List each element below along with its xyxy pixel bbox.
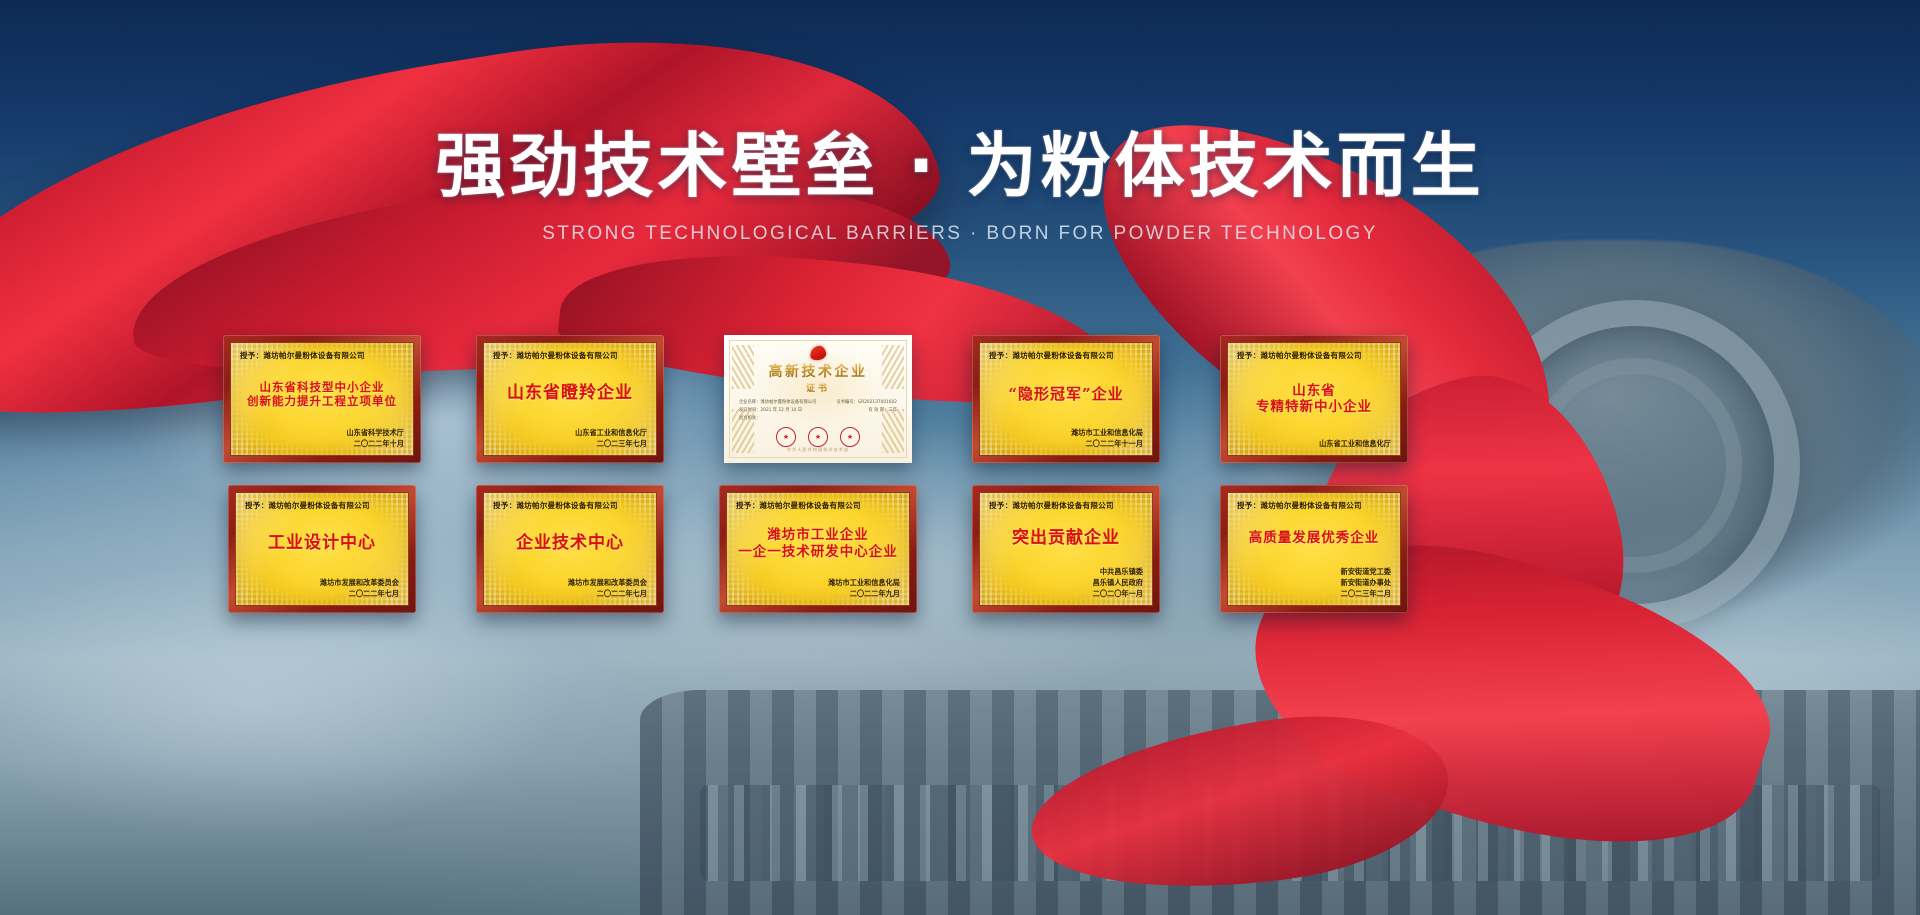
cert-field: 证书编号：GR202137001602 (836, 399, 897, 407)
award-title-line: 山东省科技型中小企业 (260, 380, 385, 394)
plaque-face: 授予：潍坊帕尔曼粉体设备有限公司 突出贡献企业 中共昌乐镇委昌乐镇人民政府二〇二… (979, 492, 1153, 606)
certificate-fields: 企业名称：潍坊帕尔曼粉体设备有限公司证书编号：GR202137001602 发证… (736, 399, 900, 423)
award-title-line: 潍坊市工业企业 (767, 527, 869, 544)
award-issuer-line: 山东省工业和信息化厅 (1237, 438, 1391, 449)
award-title-line: 创新能力提升工程立项单位 (247, 394, 397, 408)
award-issuer-line: 昌乐镇人民政府 (989, 577, 1143, 588)
official-seal-icon (808, 427, 828, 447)
hero-banner: 强劲技术壁垒 · 为粉体技术而生 STRONG TECHNOLOGICAL BA… (0, 0, 1920, 915)
award-cell: 授予：潍坊帕尔曼粉体设备有限公司 山东省瞪羚企业 山东省工业和信息化厅二〇二三年… (454, 335, 686, 463)
official-seal-icon (840, 427, 860, 447)
award-date: 二〇二三年二月 (1237, 588, 1391, 599)
award-title: 山东省瞪羚企业 (493, 361, 647, 427)
award-issuer-line: 新安街道办事处 (1237, 577, 1391, 588)
award-title-line: 突出贡献企业 (1012, 528, 1120, 549)
award-date: 二〇二二年十月 (240, 438, 404, 449)
award-issuer: 中共昌乐镇委昌乐镇人民政府二〇二〇年一月 (989, 566, 1143, 599)
award-title-line: 山东省瞪羚企业 (507, 383, 633, 404)
award-issuer: 山东省工业和信息化厅二〇二三年七月 (493, 427, 647, 449)
award-title: 山东省科技型中小企业创新能力提升工程立项单位 (240, 361, 404, 427)
award-issuer-line: 潍坊市工业和信息化局 (989, 427, 1143, 438)
award-title: 工业设计中心 (245, 511, 399, 577)
award-title-line: 高质量发展优秀企业 (1249, 530, 1380, 547)
award-grantee: 授予：潍坊帕尔曼粉体设备有限公司 (736, 500, 900, 511)
award-cell: 授予：潍坊帕尔曼粉体设备有限公司 潍坊市工业企业一企一技术研发中心企业 潍坊市工… (702, 485, 934, 613)
award-title: 高质量发展优秀企业 (1237, 511, 1391, 566)
award-plaque[interactable]: 授予：潍坊帕尔曼粉体设备有限公司 企业技术中心 潍坊市发展和改革委员会二〇二二年… (476, 485, 664, 613)
award-issuer-line: 中共昌乐镇委 (989, 566, 1143, 577)
award-date: 二〇二二年九月 (736, 588, 900, 599)
award-plaque[interactable]: 授予：潍坊帕尔曼粉体设备有限公司 潍坊市工业企业一企一技术研发中心企业 潍坊市工… (719, 485, 917, 613)
award-cell: 授予：潍坊帕尔曼粉体设备有限公司 企业技术中心 潍坊市发展和改革委员会二〇二二年… (454, 485, 686, 613)
certificate-inner: 高新技术企业 证书 企业名称：潍坊帕尔曼粉体设备有限公司证书编号：GR20213… (729, 340, 907, 458)
page-title: 强劲技术壁垒 · 为粉体技术而生 (0, 128, 1920, 205)
award-row: 授予：潍坊帕尔曼粉体设备有限公司 山东省科技型中小企业创新能力提升工程立项单位 … (206, 335, 1726, 463)
certificate-seals (776, 427, 860, 447)
corner-ornament-icon (882, 409, 904, 453)
award-plaque[interactable]: 授予：潍坊帕尔曼粉体设备有限公司 山东省科技型中小企业创新能力提升工程立项单位 … (223, 335, 421, 463)
award-title-line: “隐形冠军”企业 (1008, 385, 1123, 404)
award-cell: 授予：潍坊帕尔曼粉体设备有限公司 山东省科技型中小企业创新能力提升工程立项单位 … (206, 335, 438, 463)
award-issuer: 新安街道党工委新安街道办事处二〇二三年二月 (1237, 566, 1391, 599)
corner-ornament-icon (732, 345, 754, 389)
award-cell: 授予：潍坊帕尔曼粉体设备有限公司 突出贡献企业 中共昌乐镇委昌乐镇人民政府二〇二… (950, 485, 1182, 613)
flame-emblem-icon (809, 345, 827, 361)
award-grantee: 授予：潍坊帕尔曼粉体设备有限公司 (245, 500, 399, 511)
award-issuer: 潍坊市发展和改革委员会二〇二二年七月 (493, 577, 647, 599)
award-title-line: 山东省 (1292, 383, 1336, 400)
award-grantee: 授予：潍坊帕尔曼粉体设备有限公司 (1237, 350, 1391, 361)
award-title: “隐形冠军”企业 (989, 361, 1143, 427)
award-grantee: 授予：潍坊帕尔曼粉体设备有限公司 (493, 500, 647, 511)
award-issuer-line: 潍坊市发展和改革委员会 (245, 577, 399, 588)
official-seal-icon (776, 427, 796, 447)
award-issuer: 潍坊市工业和信息化局二〇二二年九月 (736, 577, 900, 599)
plaque-face: 授予：潍坊帕尔曼粉体设备有限公司 企业技术中心 潍坊市发展和改革委员会二〇二二年… (483, 492, 657, 606)
award-grantee: 授予：潍坊帕尔曼粉体设备有限公司 (989, 350, 1143, 361)
award-plaque[interactable]: 授予：潍坊帕尔曼粉体设备有限公司 高质量发展优秀企业 新安街道党工委新安街道办事… (1220, 485, 1408, 613)
award-grantee: 授予：潍坊帕尔曼粉体设备有限公司 (989, 500, 1143, 511)
award-date: 二〇二〇年一月 (989, 588, 1143, 599)
award-plaque[interactable]: 授予：潍坊帕尔曼粉体设备有限公司 山东省专精特新中小企业 山东省工业和信息化厅 (1220, 335, 1408, 463)
award-title-line: 企业技术中心 (516, 533, 624, 554)
corner-ornament-icon (882, 345, 904, 389)
award-title-line: 专精特新中小企业 (1256, 399, 1372, 416)
corner-ornament-icon (732, 409, 754, 453)
award-issuer-line: 新安街道党工委 (1237, 566, 1391, 577)
plaque-face: 授予：潍坊帕尔曼粉体设备有限公司 “隐形冠军”企业 潍坊市工业和信息化局二〇二二… (979, 342, 1153, 456)
award-cell: 授予：潍坊帕尔曼粉体设备有限公司 “隐形冠军”企业 潍坊市工业和信息化局二〇二二… (950, 335, 1182, 463)
award-issuer-line: 潍坊市工业和信息化局 (736, 577, 900, 588)
award-date: 二〇二二年七月 (245, 588, 399, 599)
award-issuer: 潍坊市工业和信息化局二〇二二年十一月 (989, 427, 1143, 449)
award-cell: 授予：潍坊帕尔曼粉体设备有限公司 高质量发展优秀企业 新安街道党工委新安街道办事… (1198, 485, 1430, 613)
award-grantee: 授予：潍坊帕尔曼粉体设备有限公司 (493, 350, 647, 361)
award-grantee: 授予：潍坊帕尔曼粉体设备有限公司 (1237, 500, 1391, 511)
award-date: 二〇二二年七月 (493, 588, 647, 599)
page-subtitle: STRONG TECHNOLOGICAL BARRIERS · BORN FOR… (0, 223, 1920, 245)
award-date: 二〇二三年七月 (493, 438, 647, 449)
award-cell: 授予：潍坊帕尔曼粉体设备有限公司 山东省专精特新中小企业 山东省工业和信息化厅 (1198, 335, 1430, 463)
plaque-face: 授予：潍坊帕尔曼粉体设备有限公司 山东省专精特新中小企业 山东省工业和信息化厅 (1227, 342, 1401, 456)
award-title: 山东省专精特新中小企业 (1237, 361, 1391, 438)
plaque-face: 授予：潍坊帕尔曼粉体设备有限公司 山东省瞪羚企业 山东省工业和信息化厅二〇二三年… (483, 342, 657, 456)
award-issuer: 潍坊市发展和改革委员会二〇二二年七月 (245, 577, 399, 599)
award-date: 二〇二二年十一月 (989, 438, 1143, 449)
certificate-high-tech-enterprise[interactable]: 高新技术企业 证书 企业名称：潍坊帕尔曼粉体设备有限公司证书编号：GR20213… (724, 335, 912, 463)
award-cell: 授予：潍坊帕尔曼粉体设备有限公司 工业设计中心 潍坊市发展和改革委员会二〇二二年… (206, 485, 438, 613)
cert-field: 企业名称：潍坊帕尔曼粉体设备有限公司 (739, 399, 816, 407)
award-plaque[interactable]: 授予：潍坊帕尔曼粉体设备有限公司 突出贡献企业 中共昌乐镇委昌乐镇人民政府二〇二… (972, 485, 1160, 613)
award-row: 授予：潍坊帕尔曼粉体设备有限公司 工业设计中心 潍坊市发展和改革委员会二〇二二年… (206, 485, 1726, 613)
award-grantee: 授予：潍坊帕尔曼粉体设备有限公司 (240, 350, 404, 361)
certificate-title: 高新技术企业 (769, 361, 868, 381)
award-issuer-line: 山东省工业和信息化厅 (493, 427, 647, 438)
award-issuer: 山东省科学技术厅二〇二二年十月 (240, 427, 404, 449)
plaque-face: 授予：潍坊帕尔曼粉体设备有限公司 高质量发展优秀企业 新安街道党工委新安街道办事… (1227, 492, 1401, 606)
awards-gallery: 授予：潍坊帕尔曼粉体设备有限公司 山东省科技型中小企业创新能力提升工程立项单位 … (206, 335, 1726, 613)
plaque-face: 授予：潍坊帕尔曼粉体设备有限公司 山东省科技型中小企业创新能力提升工程立项单位 … (230, 342, 414, 456)
award-plaque[interactable]: 授予：潍坊帕尔曼粉体设备有限公司 山东省瞪羚企业 山东省工业和信息化厅二〇二三年… (476, 335, 664, 463)
award-title: 潍坊市工业企业一企一技术研发中心企业 (736, 511, 900, 577)
award-plaque[interactable]: 授予：潍坊帕尔曼粉体设备有限公司 “隐形冠军”企业 潍坊市工业和信息化局二〇二二… (972, 335, 1160, 463)
award-title: 突出贡献企业 (989, 511, 1143, 566)
certificate-subtitle: 证书 (806, 381, 830, 394)
certificate-footer: 中华人民共和国科学技术部 (787, 447, 849, 454)
award-title-line: 一企一技术研发中心企业 (738, 544, 898, 561)
plaque-face: 授予：潍坊帕尔曼粉体设备有限公司 工业设计中心 潍坊市发展和改革委员会二〇二二年… (235, 492, 409, 606)
plaque-face: 授予：潍坊帕尔曼粉体设备有限公司 潍坊市工业企业一企一技术研发中心企业 潍坊市工… (726, 492, 910, 606)
headline-block: 强劲技术壁垒 · 为粉体技术而生 STRONG TECHNOLOGICAL BA… (0, 128, 1920, 245)
award-issuer-line: 山东省科学技术厅 (240, 427, 404, 438)
award-issuer-line: 潍坊市发展和改革委员会 (493, 577, 647, 588)
award-title: 企业技术中心 (493, 511, 647, 577)
stone-base-frieze (700, 785, 1880, 881)
award-cell: 高新技术企业 证书 企业名称：潍坊帕尔曼粉体设备有限公司证书编号：GR20213… (702, 335, 934, 463)
award-plaque[interactable]: 授予：潍坊帕尔曼粉体设备有限公司 工业设计中心 潍坊市发展和改革委员会二〇二二年… (228, 485, 416, 613)
award-issuer: 山东省工业和信息化厅 (1237, 438, 1391, 449)
award-title-line: 工业设计中心 (268, 533, 376, 554)
